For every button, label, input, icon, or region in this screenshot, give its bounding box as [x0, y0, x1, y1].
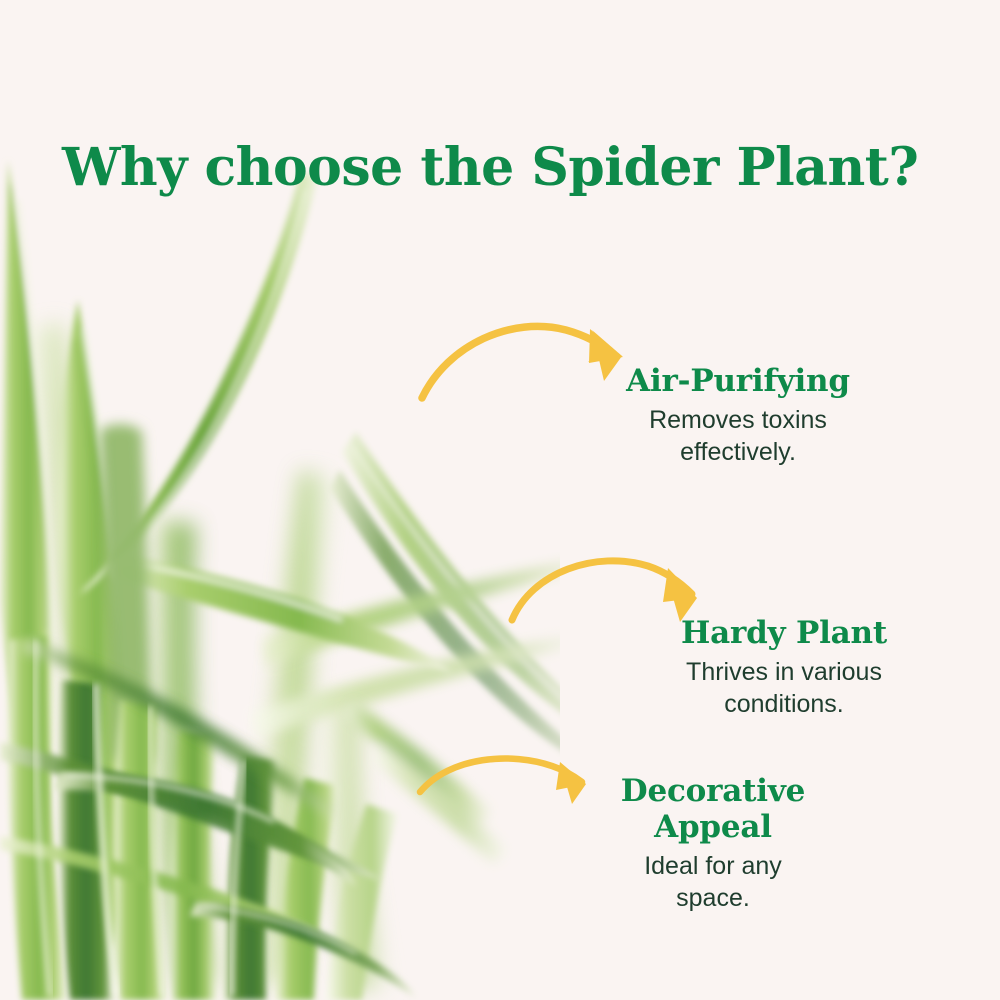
callout-heading-hardy-plant: Hardy Plant [648, 616, 920, 652]
callout-sub-hardy-plant: Thrives in various conditions. [648, 656, 920, 721]
curved-arrow-icon-hardy-plant [512, 561, 697, 622]
curved-arrow-icon-air-purifying [422, 326, 623, 398]
callout-heading-decorative-appeal: Decorative Appeal [568, 774, 858, 846]
curved-arrow-icon-decorative-appeal [420, 759, 586, 804]
infographic-canvas: Why choose the Spider Plant? Air-Purifyi… [0, 0, 1000, 1000]
callout-decorative-appeal: Decorative Appeal Ideal for any space. [568, 774, 858, 915]
callout-hardy-plant: Hardy Plant Thrives in various condition… [648, 616, 920, 721]
page-title: Why choose the Spider Plant? [62, 137, 918, 198]
callout-sub-air-purifying: Removes toxins effectively. [598, 404, 878, 469]
callout-air-purifying: Air-Purifying Removes toxins effectively… [598, 364, 878, 469]
callout-sub-decorative-appeal: Ideal for any space. [568, 850, 858, 915]
callout-heading-air-purifying: Air-Purifying [598, 364, 878, 400]
